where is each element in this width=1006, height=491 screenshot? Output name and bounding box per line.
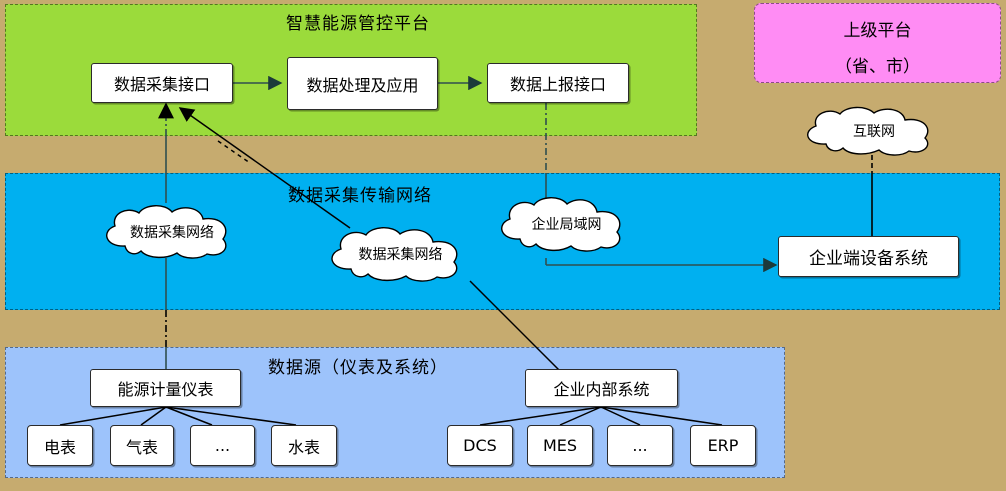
cloud-enterprise-lan[interactable]: 企业局域网 — [491, 195, 636, 253]
box-system-more[interactable]: ... — [607, 425, 673, 466]
box-enterprise-internal-systems[interactable]: 企业内部系统 — [525, 369, 678, 407]
cloud-collection-network-mid[interactable]: 数据采集网络 — [320, 225, 475, 283]
box-meter-more[interactable]: ... — [190, 425, 255, 466]
box-gas-meter[interactable]: 气表 — [110, 425, 174, 466]
box-report-interface[interactable]: 数据上报接口 — [487, 63, 629, 103]
box-collect-interface[interactable]: 数据采集接口 — [91, 63, 233, 103]
upper-platform-box: 上级平台 （省、市） — [754, 3, 1001, 83]
box-dcs[interactable]: DCS — [447, 425, 513, 466]
box-erp[interactable]: ERP — [690, 425, 756, 466]
box-process-apply[interactable]: 数据处理及应用 — [287, 57, 438, 110]
box-energy-meters[interactable]: 能源计量仪表 — [90, 369, 241, 407]
cloud-label: 企业局域网 — [491, 195, 636, 253]
band-title-network: 数据采集传输网络 — [288, 188, 432, 205]
upper-platform-line2: （省、市） — [755, 52, 1000, 77]
cloud-label: 数据采集网络 — [95, 203, 243, 260]
box-water-meter[interactable]: 水表 — [271, 425, 337, 466]
box-enterprise-device-system[interactable]: 企业端设备系统 — [778, 236, 959, 277]
diagram-canvas: 上级平台 （省、市） 智慧能源管控平台 数据采集传输网络 数据源（仪表及系统） — [0, 0, 1006, 491]
band-title-data-source: 数据源（仪表及系统） — [268, 360, 448, 377]
upper-platform-line1: 上级平台 — [755, 16, 1000, 41]
cloud-internet[interactable]: 互联网 — [796, 105, 946, 157]
cloud-collection-network-left[interactable]: 数据采集网络 — [95, 203, 243, 260]
cloud-label: 互联网 — [796, 105, 946, 157]
cloud-label: 数据采集网络 — [320, 225, 475, 283]
band-title-platform: 智慧能源管控平台 — [286, 16, 430, 33]
box-mes[interactable]: MES — [527, 425, 593, 466]
box-electric-meter[interactable]: 电表 — [27, 425, 93, 466]
